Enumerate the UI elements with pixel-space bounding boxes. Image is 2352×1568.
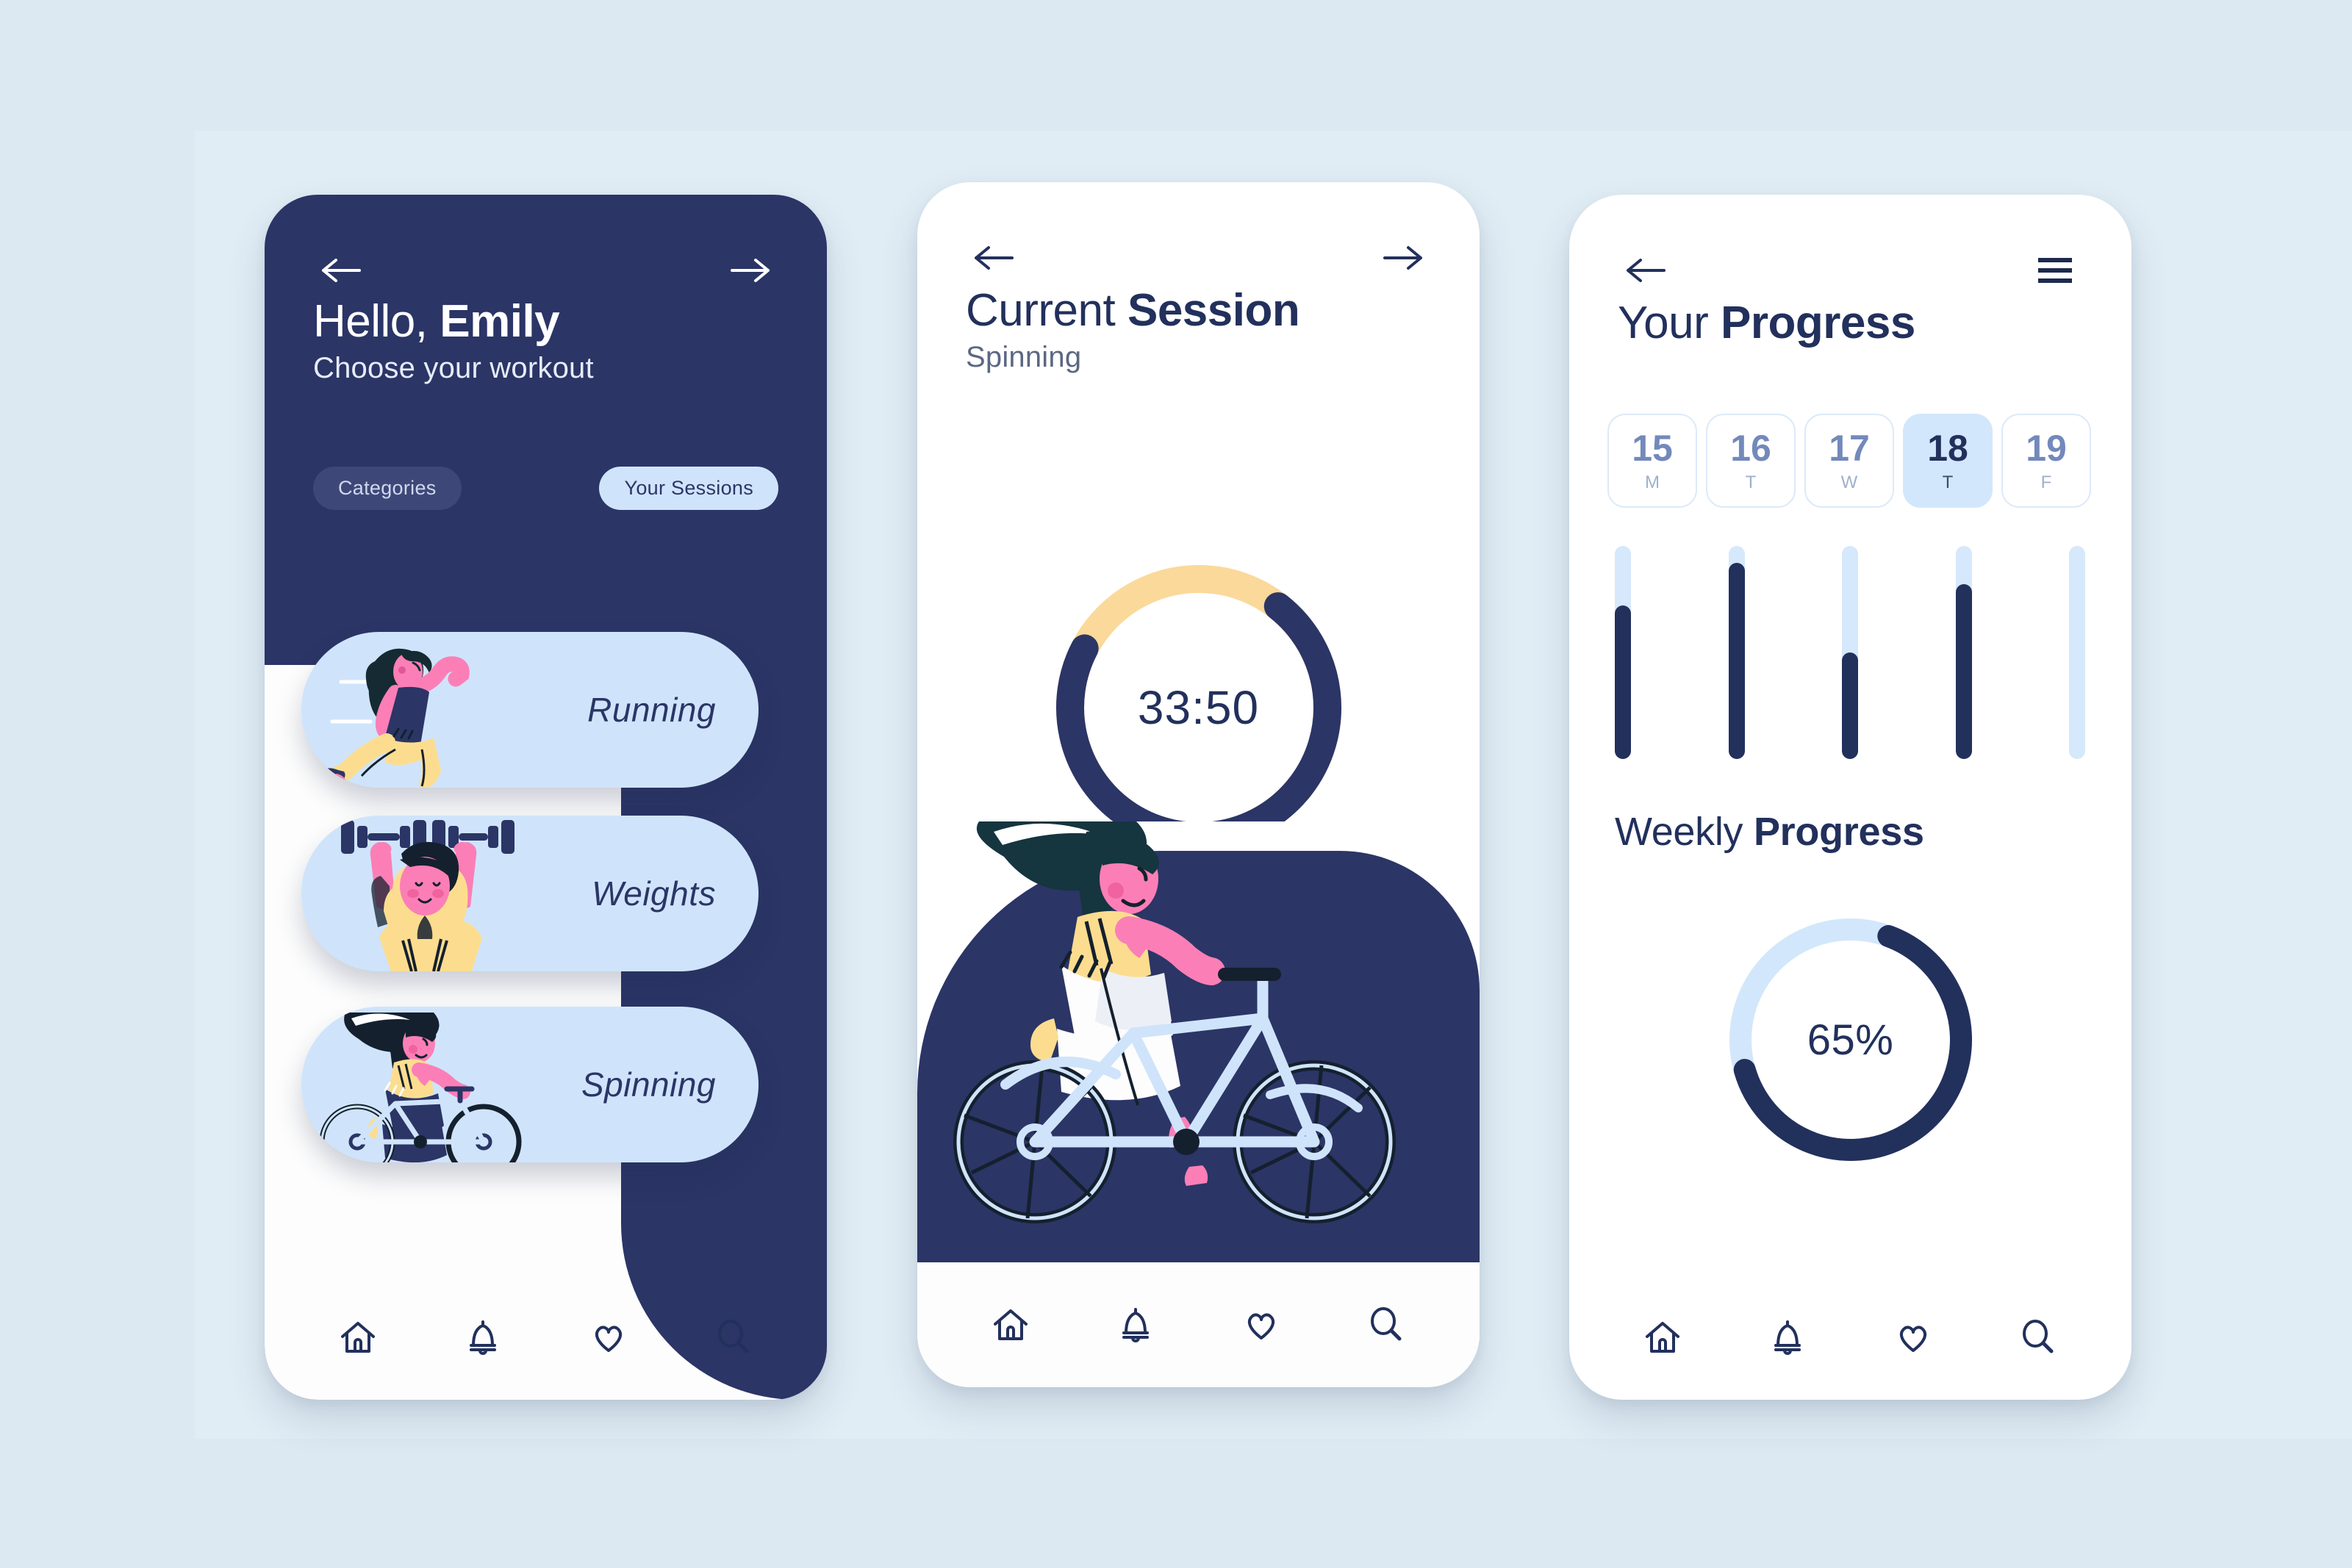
title-bold: Session [1127,285,1299,336]
weekly-title-plain: Weekly [1615,810,1754,854]
page-title: Your Progress [1618,299,1915,348]
mockup-stage: Hello, Emily Choose your workout Categor… [0,0,2352,1568]
home-icon[interactable] [1629,1303,1696,1371]
bottom-nav-screen1 [265,1275,827,1400]
arrow-right-icon[interactable] [1375,230,1431,286]
workout-card-spinning[interactable]: Spinning [301,1007,759,1162]
weekly-progress-donut: 65% [1715,904,1987,1176]
screen-your-progress: Your Progress 15 M 16 T 17 W 18 T 19 F [1569,195,2131,1400]
workout-card-weights[interactable]: Weights [301,816,759,971]
workout-card-running[interactable]: Running [301,632,759,788]
weightlifter-woman-illustration [323,816,544,971]
header-nav-screen3 [1569,237,2131,303]
session-title-block: Current Session Spinning [966,287,1299,374]
title-plain: Your [1618,298,1721,348]
date-dayofweek: T [1943,474,1954,492]
date-chip-17[interactable]: 17 W [1804,414,1894,508]
page-title: Current Session [966,287,1299,335]
date-chip-15[interactable]: 15 M [1607,414,1697,508]
session-illustration-area [917,821,1480,1262]
tab-row: Categories Your Sessions [313,467,778,510]
bottom-nav-screen2 [917,1262,1480,1387]
hamburger-menu-icon[interactable] [2027,242,2083,298]
header-nav-screen1 [265,237,827,303]
search-icon[interactable] [1352,1291,1420,1359]
bell-icon[interactable] [1754,1303,1821,1371]
tab-categories[interactable]: Categories [313,467,462,510]
date-dayofweek: T [1746,474,1757,492]
timer-value: 33:50 [1041,550,1357,866]
arrow-left-icon[interactable] [1618,242,1674,298]
page-title: Hello, Emily [313,298,594,346]
date-chip-16[interactable]: 16 T [1706,414,1796,508]
session-timer-ring: 33:50 [1041,550,1357,866]
date-number: 18 [1927,430,1968,467]
date-dayofweek: F [2041,474,2052,492]
weekly-progress-value: 65% [1715,904,1987,1176]
cyclist-woman-illustration [917,821,1480,1262]
weekly-title-bold: Progress [1754,810,1924,854]
arrow-left-icon[interactable] [966,230,1022,286]
date-chip-19[interactable]: 19 F [2001,414,2091,508]
date-strip: 15 M 16 T 17 W 18 T 19 F [1607,414,2093,508]
cyclist-woman-illustration [309,1013,551,1162]
title-plain: Current [966,285,1127,336]
weekly-progress-title: Weekly Progress [1615,809,1924,855]
home-icon[interactable] [977,1291,1044,1359]
greeting-plain: Hello, [313,296,440,347]
workout-card-label: Weights [592,874,716,913]
title-bold: Progress [1721,298,1915,348]
date-dayofweek: W [1841,474,1858,492]
bar-slot[interactable] [1615,546,1631,759]
bar-slot[interactable] [1729,546,1745,759]
bar-fill [1842,652,1858,759]
bar-slot[interactable] [1842,546,1858,759]
screen-current-session: Current Session Spinning 33:50 Calories … [917,182,1480,1387]
screen-home: Hello, Emily Choose your workout Categor… [265,195,827,1400]
date-number: 15 [1632,430,1673,467]
date-number: 19 [2026,430,2067,467]
bell-icon[interactable] [1102,1291,1169,1359]
date-dayofweek: M [1645,474,1660,492]
progress-title-block: Your Progress [1618,299,1915,348]
bar-fill [1956,584,1972,759]
daily-activity-barchart [1615,546,2085,759]
search-icon[interactable] [2004,1303,2072,1371]
heart-icon[interactable] [1227,1291,1295,1359]
bar-slot[interactable] [1956,546,1972,759]
heart-icon[interactable] [575,1303,642,1371]
greeting-name: Emily [440,296,559,347]
bar-fill [1615,605,1631,759]
date-number: 17 [1829,430,1870,467]
page-subtitle: Choose your workout [313,352,594,385]
bar-track [2069,546,2085,759]
search-icon[interactable] [700,1303,767,1371]
header-nav-screen2 [917,225,1480,291]
runner-woman-illustration [307,632,528,788]
page-subtitle: Spinning [966,341,1299,374]
arrow-right-icon[interactable] [723,242,778,298]
tab-your-sessions[interactable]: Your Sessions [599,467,778,510]
date-number: 16 [1730,430,1771,467]
date-chip-18[interactable]: 18 T [1903,414,1993,508]
workout-card-label: Running [587,690,716,730]
bar-fill [1729,563,1745,759]
bottom-nav-screen3 [1569,1275,2131,1400]
bell-icon[interactable] [449,1303,517,1371]
heart-icon[interactable] [1879,1303,1947,1371]
home-icon[interactable] [324,1303,392,1371]
greeting-block: Hello, Emily Choose your workout [313,298,594,385]
workout-card-label: Spinning [581,1065,716,1104]
bar-slot[interactable] [2069,546,2085,759]
arrow-left-icon[interactable] [313,242,369,298]
